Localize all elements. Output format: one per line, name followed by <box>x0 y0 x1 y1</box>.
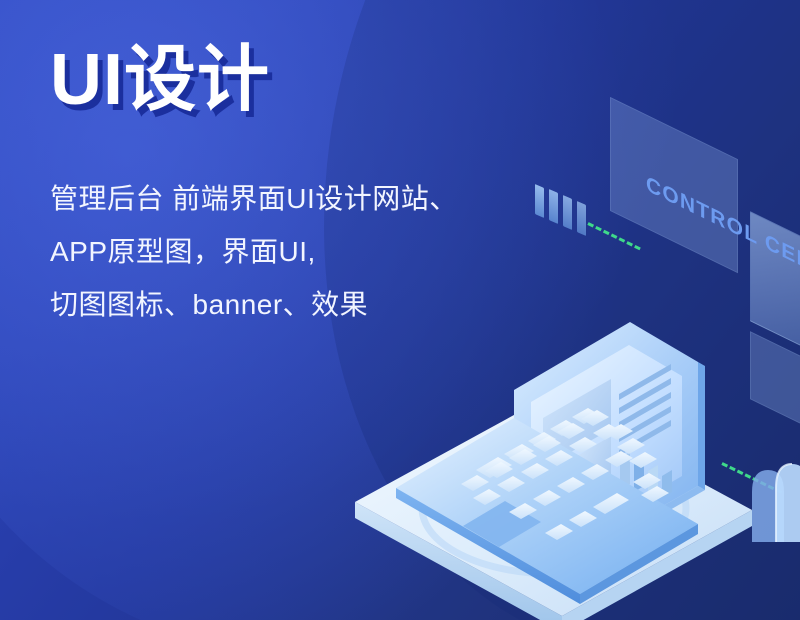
wall-panel <box>750 211 800 381</box>
dashed-accent-lower <box>721 462 782 494</box>
laptop-lid <box>514 320 705 556</box>
subtitle-line-1: 管理后台 前端界面UI设计网站、 <box>50 172 520 225</box>
subtitle-block: 管理后台 前端界面UI设计网站、 APP原型图，界面UI, 切图图标、banne… <box>50 172 520 331</box>
control-center-label: CONTROL CENTER <box>646 172 800 300</box>
ui-design-banner: CONTROL CENTER UI设计 管理后台 前端界面UI设计网站、 APP… <box>0 0 800 620</box>
wall-panel <box>750 331 800 459</box>
subtitle-line-3: 切图图标、banner、效果 <box>50 278 520 331</box>
laptop-illustration <box>300 290 800 620</box>
subtitle-line-2: APP原型图，界面UI, <box>50 225 520 278</box>
decor-bar <box>563 195 572 230</box>
edge-curve-shape <box>746 458 800 542</box>
decor-bar <box>549 189 558 224</box>
screen-bar-chart <box>620 452 672 498</box>
screen-mockup <box>543 364 672 502</box>
pedestal <box>355 398 752 620</box>
decor-bar <box>535 184 544 218</box>
page-title: UI设计 <box>50 44 270 116</box>
laptop-base <box>396 408 698 604</box>
screen-text-lines <box>619 364 671 456</box>
dashed-accent-upper <box>587 222 640 250</box>
decor-bar <box>577 201 586 236</box>
keyboard <box>461 408 669 540</box>
decor-bar-group <box>535 186 625 246</box>
control-center-wall <box>600 72 800 528</box>
wall-panel <box>610 97 738 273</box>
